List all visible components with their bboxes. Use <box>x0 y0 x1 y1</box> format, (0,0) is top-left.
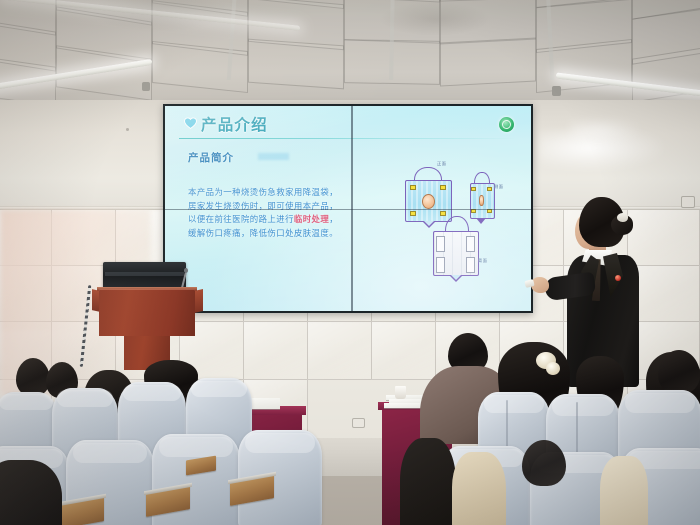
diagram-back-label: 背面 <box>478 258 487 264</box>
classroom-presentation-photo: 产品介绍 产品简介 本产品为一种烧烫伤急救家用降温袋， 居家发生烧烫伤时，即可使… <box>0 0 700 525</box>
slide-body-line-2: 居家发生烧烫伤时，即可使用本产品， <box>188 200 353 214</box>
audience-hair-accessory-2 <box>546 362 560 375</box>
podium <box>99 289 195 336</box>
diagram-front-view: 正面 <box>405 174 452 227</box>
green-seal-logo-icon <box>499 117 514 132</box>
slide-body-line-3: 以便在前往医院的路上进行临时处理， <box>188 213 353 227</box>
audience-coat-cream <box>600 456 648 525</box>
slide-title: 产品介绍 <box>201 113 268 135</box>
presentation-slide: 产品介绍 产品简介 本产品为一种烧烫伤急救家用降温袋， 居家发生烧烫伤时，即可使… <box>165 106 531 311</box>
audience-jacket-front-left <box>0 460 62 525</box>
presenter-badge-icon <box>615 275 621 281</box>
slide-title-rule <box>179 138 517 139</box>
audience-head-front-right <box>522 440 566 486</box>
heart-cloud-icon <box>184 117 197 129</box>
presenter-hair-clip <box>617 213 628 222</box>
podium-wing-right <box>194 289 203 313</box>
audience-coat-beige <box>452 452 506 525</box>
subtitle-highlight-bar <box>258 153 289 160</box>
slide-body-line-1: 本产品为一种烧烫伤急救家用降温袋， <box>188 186 353 200</box>
suspended-ceiling <box>0 0 700 108</box>
microphone-head-icon <box>184 268 188 273</box>
wall-glare-2 <box>570 120 640 142</box>
line3-highlight: 临时处理 <box>294 214 329 224</box>
diagram-side-label: 侧面 <box>494 184 503 190</box>
slide-body-line-4: 缓解伤口疼痛，降低伤口处皮肤温度。 <box>188 227 353 241</box>
panel-seam-horizontal <box>165 209 531 210</box>
video-wall-display[interactable]: 产品介绍 产品简介 本产品为一种烧烫伤急救家用降温袋， 居家发生烧烫伤时，即可使… <box>163 104 533 313</box>
line3-tail: ， <box>329 214 338 224</box>
audience-jacket-front-right <box>400 438 456 525</box>
diagram-front-label: 正面 <box>437 161 446 167</box>
audience-head-far-1 <box>16 358 50 396</box>
diagram-side-view: 侧面 <box>470 178 495 226</box>
slide-subtitle: 产品简介 <box>188 150 234 165</box>
audience-head-far-12 <box>658 350 700 394</box>
line3-lead: 以便在前往医院的路上进行 <box>188 214 294 224</box>
diagram-back-view: 背面 <box>433 226 479 282</box>
podium-monitor[interactable] <box>103 262 186 290</box>
cup-right <box>395 386 406 399</box>
wall-mark-a <box>126 128 129 131</box>
wall-socket-right <box>681 196 695 208</box>
wall-socket-low <box>352 418 365 428</box>
slide-body-text: 本产品为一种烧烫伤急救家用降温袋， 居家发生烧烫伤时，即可使用本产品， 以便在前… <box>188 186 353 240</box>
